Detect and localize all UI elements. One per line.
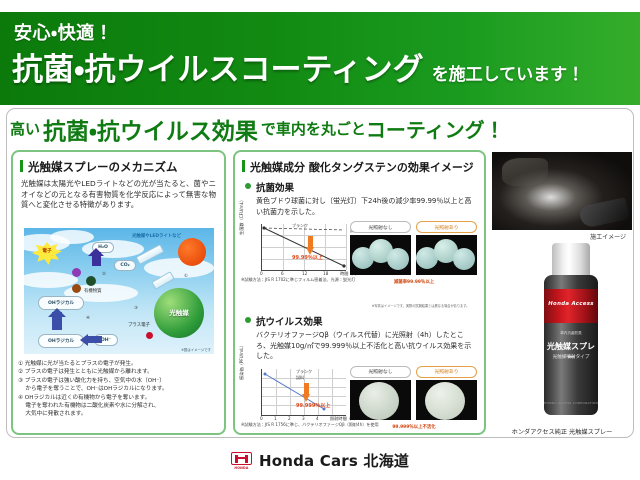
honda-logo-icon: HONDA [231, 452, 252, 469]
chart-y-axis-label: 生菌数（CFU/mL） [239, 198, 245, 235]
note-item: ① 光触媒に光が当たるとプラスの電子が発生。 [18, 360, 218, 368]
spray-photo-caption: 施工イメージ [492, 232, 632, 241]
dish-shape [387, 248, 409, 270]
chart-note: ※試験方法：JIS R 1702に準じフィルム密着法、光源：蛍光灯 [241, 277, 355, 283]
product-bottle: Honda Access 車内抗菌防臭 光触媒スプレー 光触媒噴射タイプ HON… [540, 243, 602, 423]
cloud-shape [144, 258, 214, 278]
photo-caption: 光照射なし [350, 221, 411, 233]
x-tick: 1 [274, 416, 277, 421]
product-caption: ホンダアクセス純正 光触媒スプレー [488, 427, 636, 436]
x-tick: 3 [302, 416, 305, 421]
note-item: から電子を奪うことで、OH⁻はOHラジカルになります。 [18, 385, 218, 393]
subtitle-part2: 抗菌・抗ウイルス効果 [43, 112, 258, 145]
light-source-label: 光触媒やLEDライトなど [132, 233, 181, 239]
step-number-4: ④ [86, 316, 90, 321]
dealer-name: Honda Cars 北海道 [259, 450, 409, 471]
organic-matter-label: 有機物質 [84, 288, 102, 294]
photo-column-with-light: 光照射あり [416, 366, 477, 420]
x-tick: 6 [281, 271, 284, 276]
x-tick: 18 [323, 271, 328, 276]
subtitle-row: 高い 抗菌・抗ウイルス効果 で車内を丸ごと コーティング！ [10, 112, 634, 145]
header-title-suffix: を施工しています！ [432, 60, 585, 85]
diagram-caption: ※図はイメージです [181, 347, 211, 352]
decrease-arrow-icon [306, 236, 315, 256]
photo-caption: 光照射あり [416, 366, 477, 378]
subtitle-part3: で車内を丸ごと [261, 118, 366, 139]
bottle-cap [552, 243, 590, 277]
x-tick: 0 [260, 271, 263, 276]
x-tick: 12 [302, 271, 307, 276]
effect-panel: 光触媒成分 酸化タングステンの効果イメージ 抗菌効果 黄色ブドウ球菌に対し〔蛍光… [233, 150, 486, 435]
mechanism-body-text: 光触媒は太陽光やLEDライトなどの光が当たると、菌やニオイなどの元となる有害物質… [21, 179, 216, 211]
cloud-shape [50, 230, 94, 244]
chart-axes: ブランク 試料 99.99％以上 [261, 224, 346, 271]
mechanism-diagram: 光触媒やLEDライトなど 電子 H₂O CO₂ 有機物質 ② ① ④ ③ OHラ… [24, 228, 214, 354]
photocatalyst-sphere-label: 光触媒 [154, 307, 204, 317]
molecule-dot [86, 276, 96, 286]
up-arrow-head [48, 308, 66, 317]
note-item: ② プラスの電子は発生とともに光触媒から離れます。 [18, 368, 218, 376]
step-number-3: ③ [134, 306, 138, 311]
antiviral-description: バクテリオファージQβ（ウイルス代替）に光照射（4h）したところ、光触媒10g/… [256, 330, 474, 362]
antibacterial-heading: 抗菌効果 [245, 180, 484, 194]
antiviral-photos: 光照射なし 光照射あり 99.999％以上不活化 [350, 366, 478, 432]
dish-shape [453, 248, 475, 270]
subtitle-part1: 高い [10, 118, 40, 139]
page-header: 安心・快適！ 抗菌・抗ウイルスコーティング を施工しています！ [0, 12, 640, 105]
plaque-assay-photo [350, 380, 411, 420]
chart-annotation: 99.99％以上 [292, 254, 323, 261]
photo-column-with-light: 光照射あり [416, 221, 477, 275]
bottle-sub-label: 車内抗菌防臭 [544, 331, 598, 336]
petri-dish-photo [350, 235, 411, 275]
co2-molecule-label: CO₂ [114, 260, 136, 271]
chart-annotation: 99.999％以上 [296, 402, 330, 409]
chart-axes: ブランク 試料 99.999％以上 [261, 369, 346, 416]
antibacterial-chart: 生菌数（CFU/mL） ブランク 試料 99.99％以上 [241, 221, 353, 283]
mechanism-notes: ① 光触媒に光が当たるとプラスの電子が発生。 ② プラスの電子は発生とともに光触… [18, 360, 218, 419]
effect-panel-title: 光触媒成分 酸化タングステンの効果イメージ [242, 159, 484, 175]
molecule-dot [72, 268, 81, 277]
header-tagline: 安心・快適！ [14, 19, 113, 45]
step-number-1: ① [184, 274, 188, 279]
advertisement-page: 安心・快適！ 抗菌・抗ウイルスコーティング を施工しています！ 高い 抗菌・抗ウ… [0, 0, 640, 480]
page-footer: HONDA Honda Cars 北海道 [0, 441, 640, 480]
antiviral-heading: 抗ウイルス効果 [245, 314, 484, 328]
note-item: 電子を奪われた有機物は二酸化炭素や水に分解され、 [18, 402, 218, 410]
dish-shape [359, 382, 399, 420]
electron-dot [146, 332, 153, 339]
header-title-main: 抗菌・抗ウイルスコーティング [12, 44, 424, 89]
photos-result-label: 減菌率99.99％以上 [350, 279, 478, 285]
photo-column-no-light: 光照射なし [350, 221, 411, 275]
bottle-body: Honda Access 車内抗菌防臭 光触媒スプレー 光触媒噴射タイプ HON… [544, 275, 598, 415]
left-arrow-shaft [86, 336, 102, 343]
photo-caption: 光照射なし [350, 366, 411, 378]
bottle-product-type: 光触媒噴射タイプ [544, 354, 598, 360]
antibacterial-photo-subnote: ※写真はイメージです。実際の試験結果とは異なる場合があります。 [365, 304, 476, 308]
antiviral-chart: 感染価（PFU/mL） ブランク 試料 99.999％以上 [241, 366, 353, 428]
note-item: ③ プラスの電子は強い酸化力を持ち、空気中の水（OH⁻） [18, 377, 218, 385]
photo-caption: 光照射あり [416, 221, 477, 233]
step-number-2: ② [102, 272, 106, 277]
chart-legend-blank: ブランク [292, 223, 308, 229]
antibacterial-photos: 光照射なし 光照射あり 減菌率99.99％以上 [350, 221, 478, 287]
header-title-row: 抗菌・抗ウイルスコーティング を施工しています！ [12, 44, 584, 89]
cloud-shape [24, 272, 78, 288]
logo-wordmark: HONDA [231, 466, 252, 470]
antiviral-figure-row: 感染価（PFU/mL） ブランク 試料 99.999％以上 [241, 366, 478, 435]
logo-h-crossbar [235, 457, 248, 459]
antibacterial-description: 黄色ブドウ球菌に対し〔蛍光灯〕下24h後の減少率99.99％以上と高い抗菌力を示… [256, 196, 474, 217]
bottle-footer-text: HONDA ACCESS CORPORATION [544, 401, 598, 405]
decrease-arrow-icon [302, 383, 311, 403]
note-item: 大気中に発散されます。 [18, 410, 218, 418]
plus-electron-label: プラス電子 [128, 322, 150, 328]
chart-legend-sample: 試料 [296, 375, 304, 381]
spray-application-photo [492, 152, 632, 230]
mechanism-panel-title: 光触媒スプレーのメカニズム [20, 159, 224, 175]
sun-icon [178, 238, 206, 266]
photo-shadow [502, 158, 548, 186]
photo-column-no-light: 光照射なし [350, 366, 411, 420]
subtitle-part4: コーティング！ [366, 114, 505, 143]
photos-result-label: 99.999％以上不活化 [350, 424, 478, 430]
radical-label-2: OHラジカル [38, 334, 84, 348]
plaque-assay-photo [416, 380, 477, 420]
photocatalyst-sphere: 光触媒 [154, 288, 204, 338]
bottle-brand: Honda Access [544, 301, 598, 307]
molecule-dot [72, 284, 81, 293]
petri-dish-photo [416, 235, 477, 275]
dish-shape [425, 382, 465, 420]
chart-line-series [262, 224, 346, 270]
x-tick: 4 [316, 416, 319, 421]
diagonal-arrow-head [88, 248, 104, 256]
note-item: ④ OHラジカルは近くの有機物から電子を奪います。 [18, 394, 218, 402]
chart-y-axis-label: 感染価（PFU/mL） [239, 343, 245, 380]
x-tick: 2 [288, 416, 291, 421]
left-arrow-head [80, 334, 88, 346]
antibacterial-figure-row: 生菌数（CFU/mL） ブランク 試料 99.99％以上 [241, 221, 478, 291]
x-tick: 0 [260, 416, 263, 421]
